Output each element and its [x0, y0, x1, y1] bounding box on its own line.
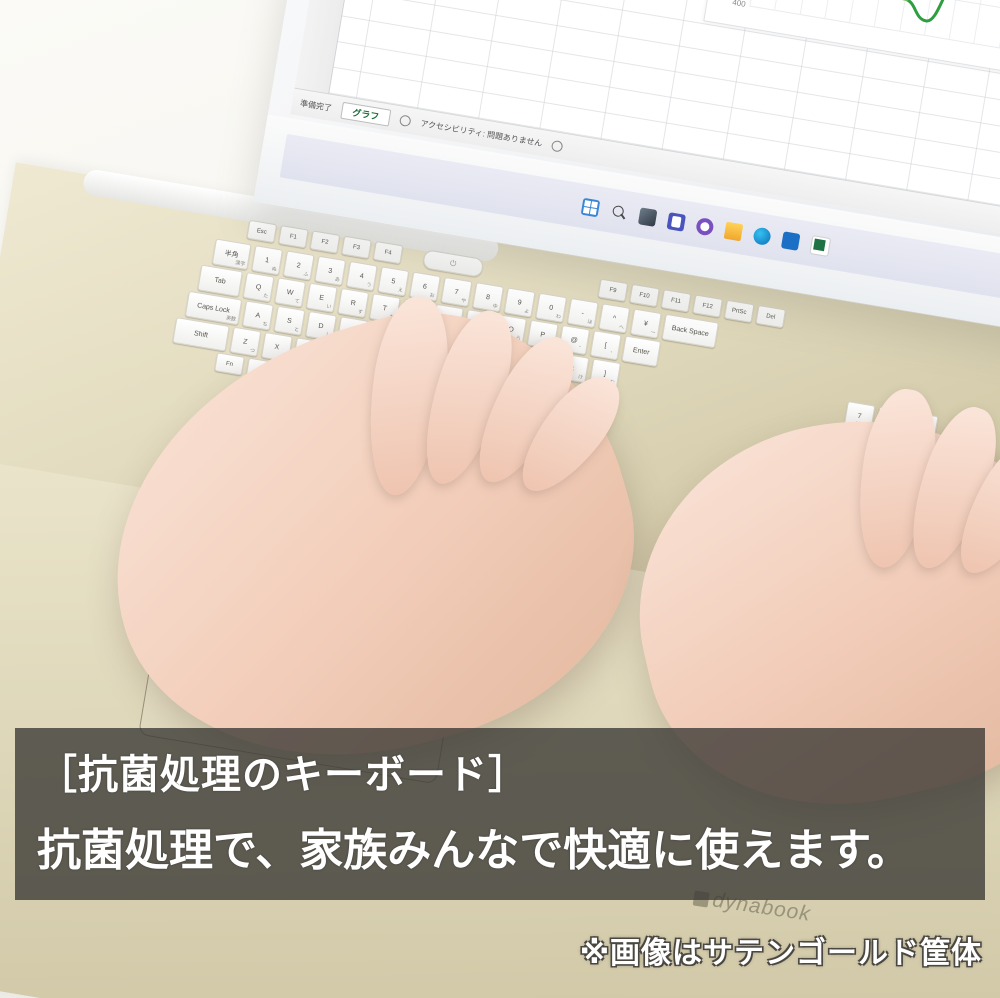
- key-f10[interactable]: F10: [629, 284, 660, 307]
- key-f1[interactable]: F1: [278, 225, 309, 248]
- edge-icon[interactable]: [752, 226, 772, 246]
- status-ready: 準備完了: [299, 97, 332, 113]
- key-backspace[interactable]: Back Space: [661, 314, 719, 349]
- outlook-icon[interactable]: [695, 216, 715, 236]
- footnote-text: ※画像はサテンゴールド筐体: [580, 928, 982, 972]
- key-f3[interactable]: F3: [341, 236, 372, 259]
- line-y-tick: 400: [709, 0, 746, 9]
- key-yen[interactable]: ¥ー: [630, 308, 662, 338]
- key-s[interactable]: Sと: [273, 306, 305, 336]
- key-3[interactable]: 3あ: [314, 256, 346, 286]
- search-icon[interactable]: [609, 202, 629, 222]
- key-9[interactable]: 9よ: [504, 287, 536, 317]
- key-4[interactable]: 4う: [346, 261, 378, 291]
- key-prtsc[interactable]: PrtSc: [724, 300, 755, 323]
- key-r[interactable]: Rす: [337, 288, 369, 318]
- excel-icon[interactable]: [809, 235, 831, 257]
- caption-band: ［抗菌処理のキーボード］ 抗菌処理で、家族みんなで快適に使えます。: [15, 728, 985, 900]
- key-tab[interactable]: Tab: [197, 264, 243, 297]
- product-photo: dynabook Esc F1 F2 F3 F4 ⏻ F9 F10 F11 F1…: [0, 0, 1000, 998]
- key-7[interactable]: 7や: [441, 277, 473, 307]
- file-explorer-icon[interactable]: [723, 221, 743, 241]
- key-f11[interactable]: F11: [661, 289, 692, 312]
- key-f9[interactable]: F9: [598, 279, 629, 302]
- key-hankaku-zenkaku[interactable]: 半角漢字: [212, 239, 252, 271]
- store-icon[interactable]: [780, 231, 800, 251]
- power-icon: ⏻: [449, 258, 457, 269]
- key-2[interactable]: 2ふ: [283, 250, 315, 280]
- teams-icon[interactable]: [666, 212, 686, 232]
- key-fn[interactable]: Fn: [214, 352, 245, 375]
- sheet-tab-graph[interactable]: グラフ: [340, 101, 391, 126]
- key-del[interactable]: Del: [755, 305, 786, 328]
- gear-icon[interactable]: [551, 139, 564, 152]
- key-f2[interactable]: F2: [310, 230, 341, 253]
- start-icon[interactable]: [580, 197, 600, 217]
- key-enter[interactable]: Enter: [621, 335, 661, 367]
- key-caret[interactable]: ^へ: [598, 303, 630, 333]
- key-5[interactable]: 5え: [377, 266, 409, 296]
- caption-body: 抗菌処理で、家族みんなで快適に使えます。: [37, 814, 911, 878]
- key-w[interactable]: Wて: [274, 277, 306, 307]
- accessibility-icon: [399, 114, 412, 127]
- key-e[interactable]: Eい: [306, 283, 338, 313]
- key-0[interactable]: 0わ: [535, 293, 567, 323]
- key-minus[interactable]: -ほ: [567, 298, 599, 328]
- key-f4[interactable]: F4: [373, 241, 404, 264]
- key-q[interactable]: Qた: [243, 272, 275, 302]
- key-8[interactable]: 8ゆ: [472, 282, 504, 312]
- key-a[interactable]: Aち: [242, 300, 274, 330]
- line-series-予測: [755, 0, 1000, 20]
- caption-heading: ［抗菌処理のキーボード］: [37, 742, 529, 800]
- task-view-icon[interactable]: [637, 207, 657, 227]
- key-esc[interactable]: Esc: [246, 220, 277, 243]
- key-bracket-left[interactable]: [゜: [590, 330, 622, 360]
- key-1[interactable]: 1ぬ: [251, 245, 283, 275]
- key-z[interactable]: Zつ: [229, 327, 261, 357]
- line-series-売上: [752, 0, 1000, 38]
- key-f12[interactable]: F12: [692, 294, 723, 317]
